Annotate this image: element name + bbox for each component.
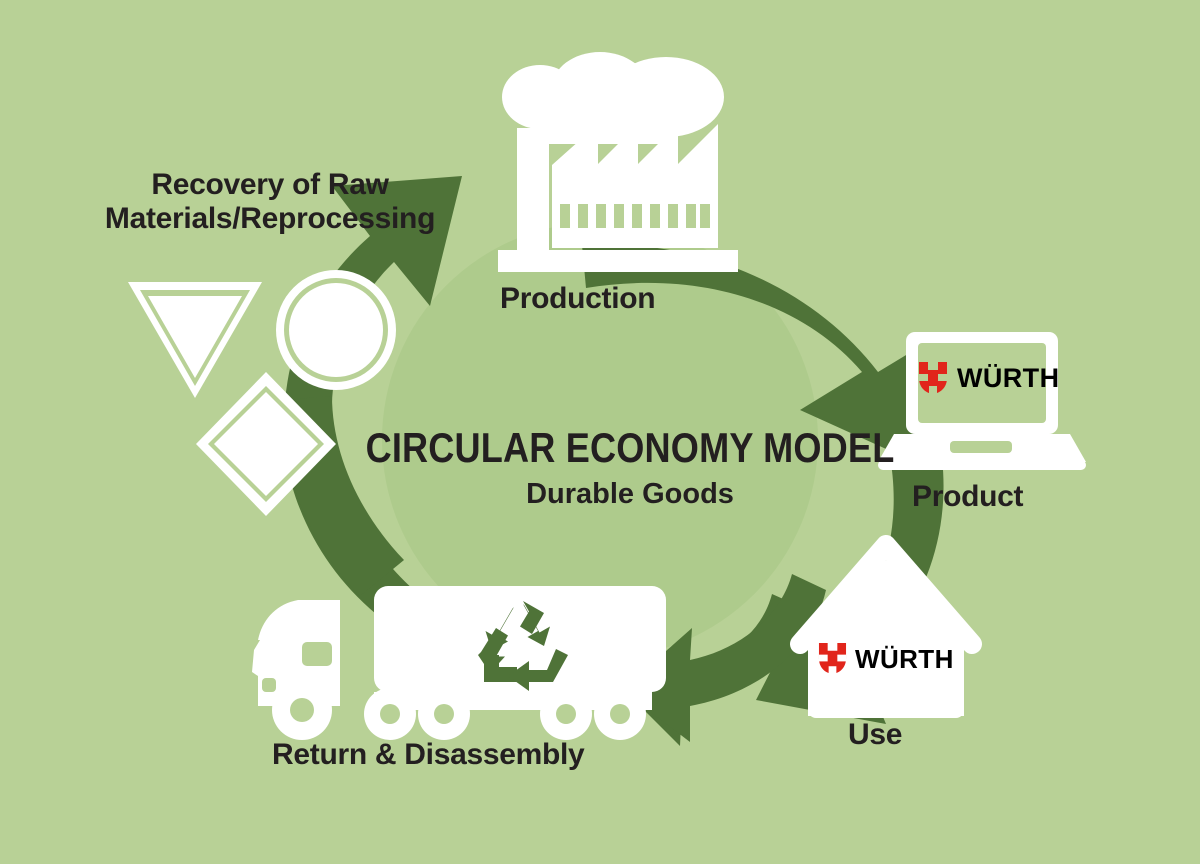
truck-icon <box>252 586 666 740</box>
truck-sleeper <box>258 600 340 640</box>
factory-base <box>498 250 738 272</box>
diagram-title-main: CIRCULAR ECONOMY MODEL <box>346 424 914 472</box>
node-label-recovery: Recovery of Raw Materials/Reprocessing <box>60 168 480 235</box>
wurth-wordmark: WÜRTH <box>855 646 954 672</box>
diagram-title: CIRCULAR ECONOMY MODEL Durable Goods <box>300 424 960 511</box>
node-label-production: Production <box>500 282 655 316</box>
smoke-body <box>540 96 670 144</box>
wurth-shield-icon <box>918 361 948 395</box>
circular-economy-diagram: WÜRTH WÜRTH Recovery of Raw Materials/Re… <box>0 0 1200 864</box>
house-icon <box>800 545 972 718</box>
truck-window <box>302 642 332 666</box>
wurth-logo-laptop: WÜRTH <box>918 361 1059 395</box>
wurth-wordmark: WÜRTH <box>957 365 1059 392</box>
wurth-logo-house: WÜRTH <box>818 642 954 675</box>
chimney <box>517 128 549 252</box>
circle-shape <box>276 270 396 390</box>
wurth-shield-icon <box>818 642 847 675</box>
node-label-return: Return & Disassembly <box>272 738 584 772</box>
factory-windows <box>560 204 710 228</box>
triangle-down-shape <box>128 282 262 398</box>
truck-headlight <box>262 678 276 692</box>
diagram-title-sub: Durable Goods <box>300 478 960 511</box>
node-label-use: Use <box>848 718 902 752</box>
factory-icon <box>498 52 738 272</box>
